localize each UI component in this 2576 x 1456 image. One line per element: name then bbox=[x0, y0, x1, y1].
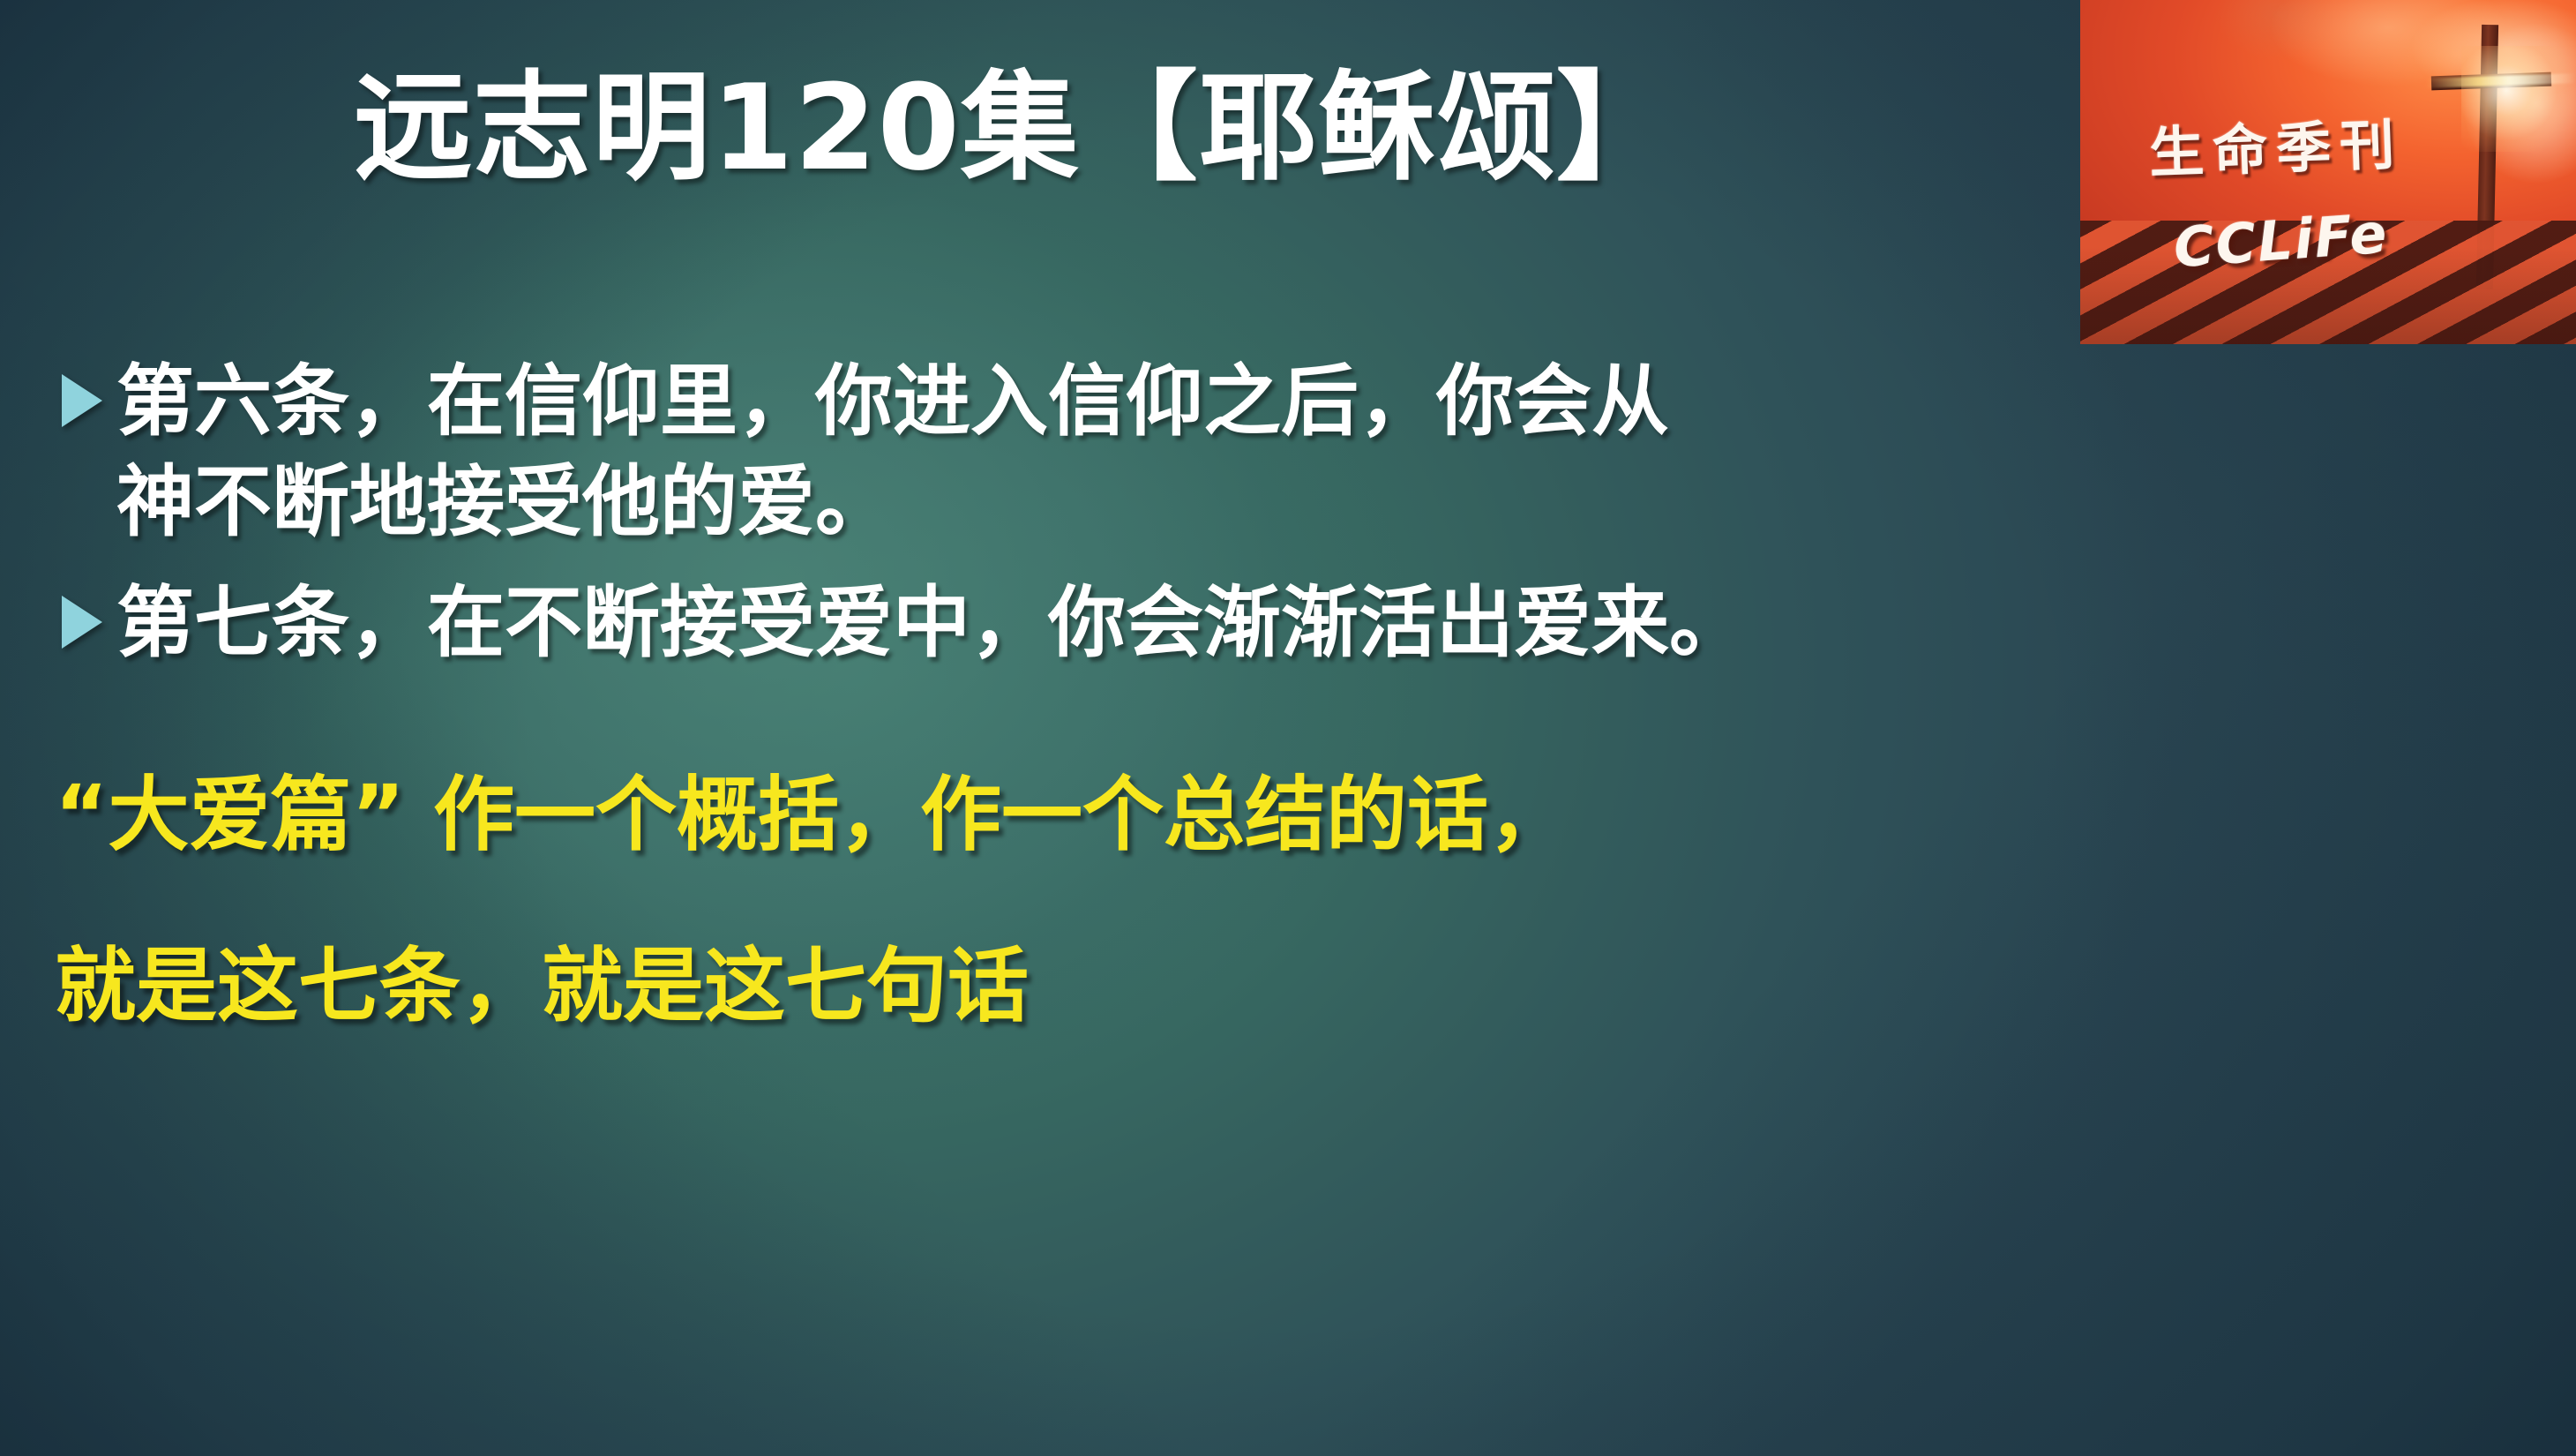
bullet-item-2-line-1: 第七条，在不断接受爱中，你会渐渐活出爱来。 bbox=[116, 577, 1747, 668]
triangle-bullet-icon bbox=[62, 374, 102, 427]
summary-line-1: “大爱篇” 作一个概括，作一个总结的话， bbox=[55, 775, 2084, 856]
slide-body: 第六条，在信仰里，你进入信仰之后，你会从 神不断地接受他的爱。 第七条，在不断接… bbox=[62, 351, 2091, 693]
bullet-item-1: 第六条，在信仰里，你进入信仰之后，你会从 神不断地接受他的爱。 bbox=[62, 351, 2091, 553]
bullet-item-1-text: 第六条，在信仰里，你进入信仰之后，你会从 神不断地接受他的爱。 bbox=[116, 351, 2091, 553]
bullet-item-1-line-1: 第六条，在信仰里，你进入信仰之后，你会从 bbox=[116, 356, 1669, 447]
summary-line-2: 就是这七条，就是这七句话 bbox=[55, 946, 2084, 1027]
slide-title: 远志明120集【耶稣颂】 bbox=[0, 64, 2029, 193]
cclife-logo: 生命季刊 CCLiFe bbox=[2080, 0, 2576, 344]
bullet-item-2: 第七条，在不断接受爱中，你会渐渐活出爱来。 bbox=[62, 573, 2091, 673]
bullet-item-2-text: 第七条，在不断接受爱中，你会渐渐活出爱来。 bbox=[116, 573, 2091, 673]
presentation-slide: 远志明120集【耶稣颂】 第六条，在信仰里，你进入信仰之后，你会从 神不断地接受… bbox=[0, 0, 2576, 1456]
triangle-bullet-icon bbox=[62, 596, 102, 649]
summary-block: “大爱篇” 作一个概括，作一个总结的话， 就是这七条，就是这七句话 bbox=[55, 775, 2084, 1027]
logo-light-flare bbox=[2461, 46, 2574, 152]
logo-chinese-name: 生命季刊 bbox=[2148, 100, 2405, 188]
bullet-item-1-line-2: 神不断地接受他的爱。 bbox=[116, 452, 2091, 552]
